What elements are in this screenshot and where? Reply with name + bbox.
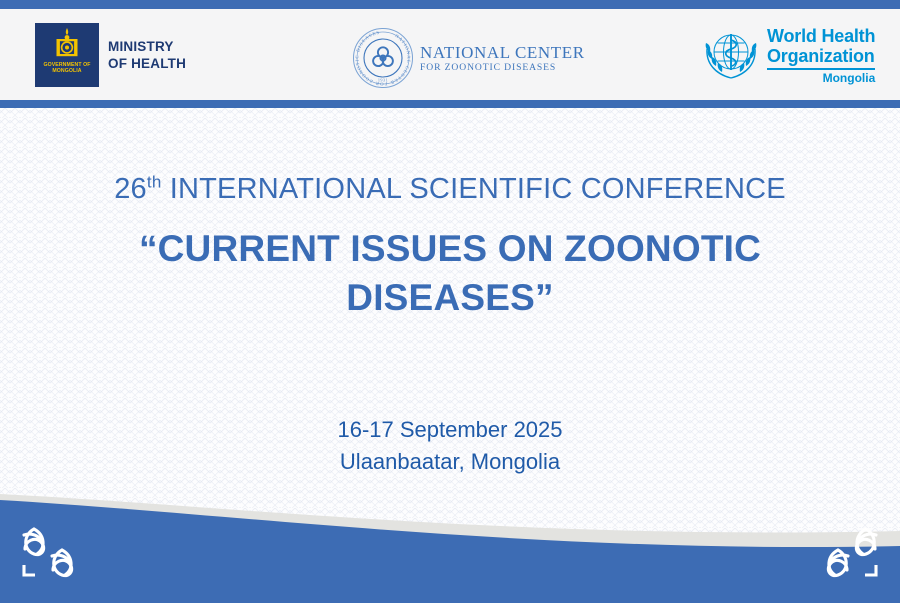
corner-bracket: [865, 565, 876, 575]
event-date: 16-17 September 2025: [0, 414, 900, 446]
ulzii-knot-icon-left: [16, 523, 88, 581]
mongolia-state-emblem-icon: GOVERNMENT OF MONGOLIA: [35, 23, 99, 87]
logo-row: GOVERNMENT OF MONGOLIA MINISTRY OF HEALT…: [0, 9, 900, 100]
who-emblem-icon: [702, 28, 760, 80]
slide-body: 26th INTERNATIONAL SCIENTIFIC CONFERENCE…: [0, 108, 900, 603]
conference-ordinal-suffix: th: [147, 172, 162, 191]
ministry-label-line2: OF HEALTH: [108, 55, 186, 72]
conference-title-slide: GOVERNMENT OF MONGOLIA MINISTRY OF HEALT…: [0, 0, 900, 603]
page-title: “CURRENT ISSUES ON ZOONOTIC DISEASES”: [0, 224, 900, 322]
who-underline-rule: [767, 68, 875, 70]
conference-number: 26: [114, 173, 147, 205]
ministry-label-line1: MINISTRY: [108, 38, 186, 55]
conference-subtitle: 26th INTERNATIONAL SCIENTIFIC CONFERENCE: [0, 172, 900, 206]
nczd-name-line2: FOR ZOONOTIC DISEASES: [420, 62, 585, 74]
ministry-of-health-label: MINISTRY OF HEALTH: [108, 38, 186, 72]
emblem-caption: GOVERNMENT OF MONGOLIA: [35, 62, 99, 75]
who-name-line1: World Health: [767, 26, 875, 46]
logo-header-band: GOVERNMENT OF MONGOLIA MINISTRY OF HEALT…: [0, 9, 900, 100]
top-accent-bar: [0, 0, 900, 9]
who-country-label: Mongolia: [767, 72, 875, 85]
who-wordmark: World Health Organization Mongolia: [767, 26, 875, 85]
wave-shape: [0, 468, 900, 603]
who-name-line2: Organization: [767, 46, 875, 66]
ulzii-knot-icon-right: [812, 523, 884, 581]
emblem-caption-line2: MONGOLIA: [35, 68, 99, 75]
who-logo: World Health Organization Mongolia: [702, 26, 875, 85]
svg-text:1931: 1931: [378, 77, 388, 82]
header-divider-bar: [0, 100, 900, 108]
nczd-name-line1: NATIONAL CENTER: [420, 43, 585, 62]
corner-bracket: [24, 565, 35, 575]
emblem-caption-line1: GOVERNMENT OF: [35, 62, 99, 69]
conference-subtitle-text: INTERNATIONAL SCIENTIFIC CONFERENCE: [161, 173, 785, 205]
national-center-zoonotic-diseases-logo: NATIONAL CENTER FOR ZOONOTIC DISEASES 19…: [352, 27, 585, 89]
title-block: 26th INTERNATIONAL SCIENTIFIC CONFERENCE…: [0, 108, 900, 322]
nczd-seal-icon: NATIONAL CENTER FOR ZOONOTIC DISEASES 19…: [352, 27, 414, 89]
ministry-of-health-logo: GOVERNMENT OF MONGOLIA MINISTRY OF HEALT…: [35, 23, 186, 87]
wave-main-layer: [0, 500, 900, 603]
bottom-wave-decoration: [0, 468, 900, 603]
nczd-wordmark: NATIONAL CENTER FOR ZOONOTIC DISEASES: [420, 43, 585, 74]
